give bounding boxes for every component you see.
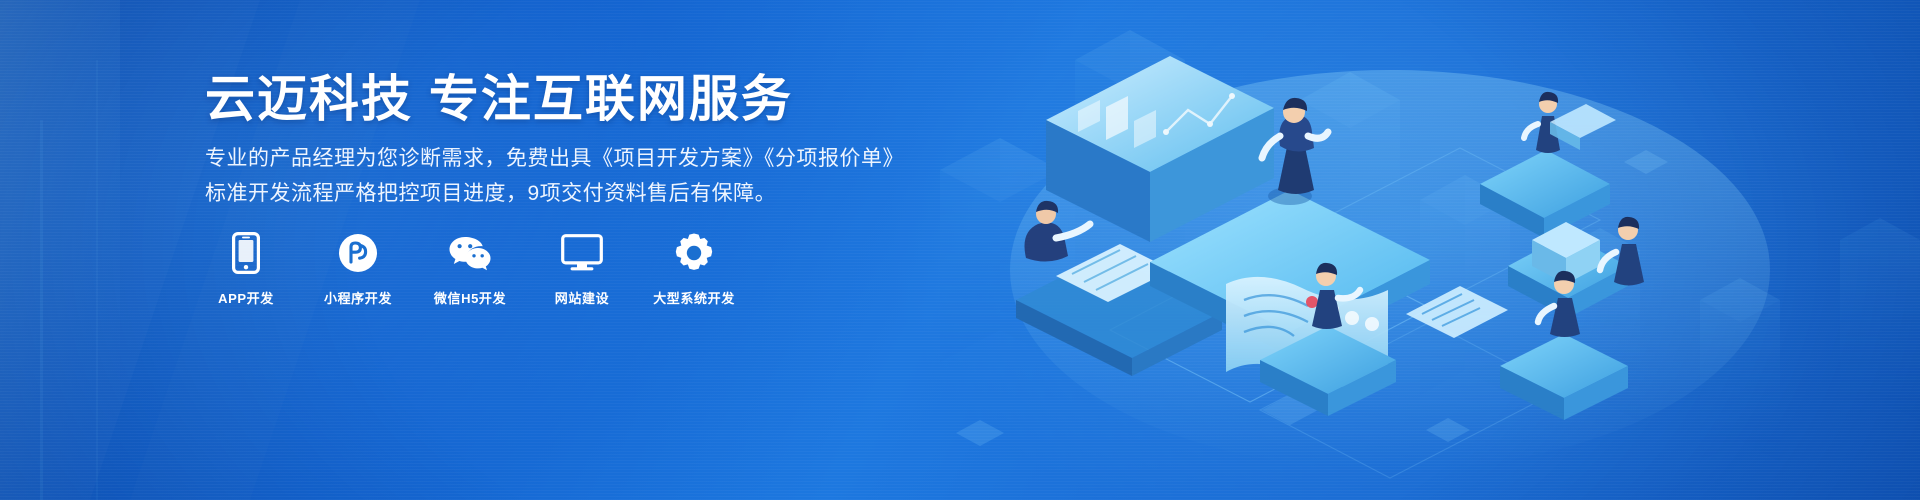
service-list: APP开发 小程序开发	[205, 232, 735, 307]
platform-group	[1150, 98, 1430, 387]
person-lower-right	[1538, 271, 1580, 337]
gear-icon	[673, 232, 715, 274]
hero-banner: 云迈科技 专注互联网服务 专业的产品经理为您诊断需求，免费出具《项目开发方案》《…	[0, 0, 1920, 500]
person-upper-right	[1524, 92, 1560, 153]
notification-card	[1550, 104, 1616, 150]
mobile-phone-icon	[232, 232, 260, 274]
person-standing	[1262, 98, 1328, 205]
subtitle-line-1: 专业的产品经理为您诊断需求，免费出具《项目开发方案》《分项报价单》	[205, 145, 904, 173]
subtitle-line-2: 标准开发流程严格把控项目进度，9项交付资料售后有保障。	[205, 180, 776, 208]
desk-group	[1016, 56, 1274, 376]
floating-panel	[1406, 286, 1508, 338]
data-scroll	[1226, 277, 1388, 387]
service-item-app[interactable]: APP开发	[205, 232, 287, 307]
person-lower-left	[1312, 263, 1360, 329]
person-seated	[1025, 201, 1091, 262]
step-platforms-group	[1260, 92, 1644, 420]
service-item-miniprogram[interactable]: 小程序开发	[317, 232, 399, 307]
service-label: APP开发	[218, 288, 274, 307]
monitor-icon	[561, 232, 603, 274]
mini-program-icon	[338, 232, 378, 274]
person-right	[1600, 217, 1644, 286]
service-item-website[interactable]: 网站建设	[541, 232, 623, 307]
service-item-wechat[interactable]: 微信H5开发	[429, 232, 511, 307]
page-title: 云迈科技 专注互联网服务	[205, 72, 793, 127]
service-label: 网站建设	[555, 288, 609, 307]
isometric-illustration	[960, 0, 1920, 500]
banner-content: 云迈科技 专注互联网服务 专业的产品经理为您诊断需求，免费出具《项目开发方案》《…	[205, 0, 1025, 500]
service-label: 大型系统开发	[653, 288, 735, 307]
service-label: 小程序开发	[324, 288, 392, 307]
illustration-svg	[960, 0, 1920, 500]
service-label: 微信H5开发	[434, 288, 506, 307]
cube-box	[1532, 222, 1600, 284]
service-item-system[interactable]: 大型系统开发	[653, 232, 735, 307]
wechat-icon	[448, 232, 492, 274]
